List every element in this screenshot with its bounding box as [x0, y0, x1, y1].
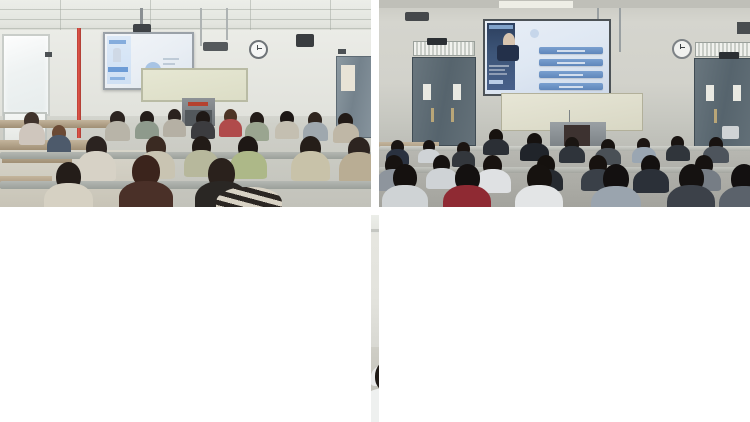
gutter-vertical-bottom-row [0, 207, 371, 215]
wall-sign-left [45, 52, 52, 57]
projector [405, 12, 429, 21]
ceiling [0, 0, 371, 34]
gutter-center [379, 207, 750, 215]
ceiling-speaker [296, 34, 314, 47]
gutter-vertical-bottom [379, 215, 750, 422]
gutter-horizontal-right [0, 215, 371, 422]
slide-bullet-bar-1 [539, 47, 603, 54]
wall-sign-right [719, 52, 739, 59]
lecture-hall-scene-2 [379, 0, 750, 207]
wall-clock [249, 40, 268, 59]
photo-panel-top-right [379, 0, 750, 207]
projector-mount [140, 8, 143, 25]
ceiling-light-box [203, 42, 228, 51]
slide-bullet-bar-4 [539, 83, 603, 90]
audience [371, 337, 379, 422]
photo-panel-top-left [0, 0, 371, 207]
photo-collage [0, 0, 750, 422]
speaker-video-panel [487, 23, 515, 90]
wall-clock [672, 39, 692, 59]
ceiling-hanger-1 [200, 8, 202, 46]
audience [379, 127, 750, 207]
audience [0, 97, 371, 207]
lecture-hall-scene-1 [0, 0, 371, 207]
slide-bullet-bar-3 [539, 71, 603, 78]
gutter-vertical-top [371, 0, 379, 207]
ceiling-light [499, 1, 573, 8]
wall-sign-left [427, 38, 447, 45]
ceiling-hanger-2 [226, 8, 228, 40]
wall-sign-right [338, 49, 346, 54]
wall-speaker [737, 22, 750, 34]
slide-bullet-bar-2 [539, 59, 603, 66]
gutter-horizontal-left [371, 207, 379, 215]
lecture-hall-scene-3 [371, 215, 379, 422]
ceiling-rail [371, 229, 379, 232]
photo-panel-bottom-left [371, 215, 379, 422]
projection-screen [483, 19, 611, 96]
slide-bubble-icon [530, 29, 539, 38]
hanger-rod [619, 8, 621, 52]
